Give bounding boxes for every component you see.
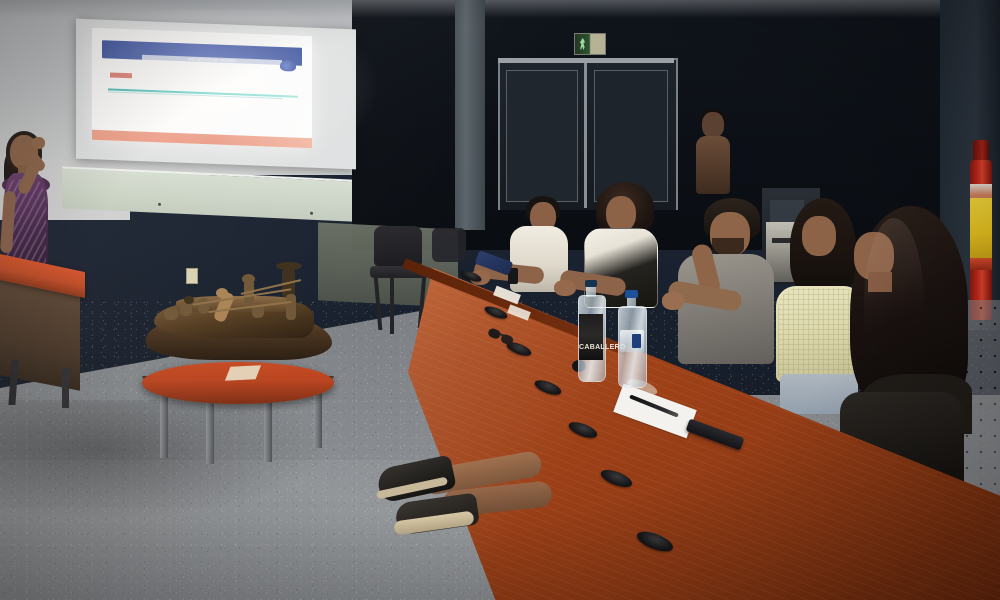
slide-red-label <box>110 72 132 78</box>
torso <box>696 136 730 194</box>
figure-seated <box>164 308 178 320</box>
bottle-label: CABALLERO <box>579 314 603 360</box>
figure-legs <box>286 294 296 320</box>
sculpture-table-leg <box>160 388 168 458</box>
empty-chair-back-secondary[interactable] <box>432 228 466 262</box>
ceiling-shadow <box>0 0 1000 18</box>
whiteboard-screw <box>310 212 313 215</box>
figure-seated <box>180 302 192 316</box>
door-top-rail <box>498 58 674 63</box>
projection-screen-slide: PRESENTATION HEADER Slide Title <box>92 28 312 148</box>
bottle-label-mark <box>632 334 641 348</box>
bottle-cap <box>585 280 597 287</box>
water-bottle-labelled[interactable]: CABALLERO <box>576 280 606 380</box>
slide-header-bar: PRESENTATION HEADER Slide Title <box>102 40 302 66</box>
water-bottle-plain[interactable] <box>616 290 646 386</box>
head <box>606 196 636 232</box>
bottle-label-text: CABALLERO <box>579 344 603 351</box>
whiteboard-screw <box>158 203 161 206</box>
hand <box>32 137 45 149</box>
bottle-cap <box>625 290 638 298</box>
exit-sign <box>574 33 606 55</box>
empty-chair-backrest[interactable] <box>374 226 422 266</box>
hand <box>662 292 684 310</box>
exit-sign-glyph <box>575 34 605 54</box>
hand <box>554 280 576 296</box>
slide-logo-icon <box>280 60 296 72</box>
figure-head <box>242 274 255 284</box>
conference-room-photo: PRESENTATION HEADER Slide Title <box>0 0 1000 600</box>
presenter-desk-leg <box>62 368 69 408</box>
hair-highlight <box>864 218 924 388</box>
figure-hat <box>276 262 302 270</box>
slide-header-subtitle: Slide Title <box>162 63 262 73</box>
chair-leg <box>390 276 394 334</box>
bronze-boat-sculpture <box>140 262 340 370</box>
head <box>702 112 724 138</box>
figure-head <box>216 288 228 298</box>
